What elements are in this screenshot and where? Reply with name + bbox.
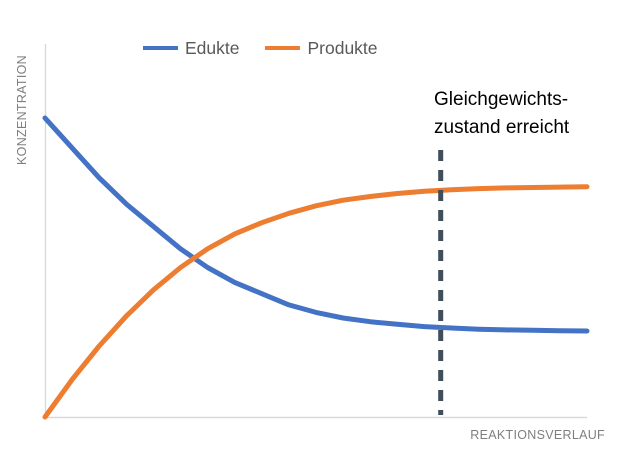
equilibrium-annotation-line-2: zustand erreicht [434,114,624,142]
series-line-produkte [45,187,587,417]
equilibrium-annotation-line-1: Gleichgewichts- [434,86,624,114]
equilibrium-annotation: Gleichgewichts- zustand erreicht [434,86,624,142]
legend-label-edukte: Edukte [185,38,239,58]
x-axis-title: REAKTIONSVERLAUF [300,428,605,442]
legend-swatch-edukte [143,46,178,50]
chart-plot-area [0,0,636,458]
legend-swatch-produkte [265,46,300,50]
legend-label-produkte: Produkte [307,38,377,58]
chart-legend: Edukte Produkte [143,38,378,58]
y-axis-title: KONZENTRATION [15,0,29,220]
chart-container: Edukte Produkte KONZENTRATION REAKTIONSV… [0,0,636,458]
legend-entry-produkte[interactable]: Produkte [265,38,377,58]
legend-entry-edukte[interactable]: Edukte [143,38,239,58]
series-line-edukte [45,118,587,331]
